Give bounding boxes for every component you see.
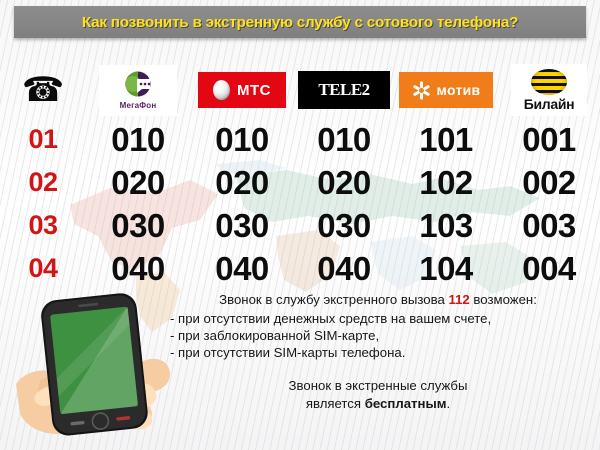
list-item: - при отсутствии SIM-карты телефона.	[170, 344, 588, 361]
cell-tele2-03: 030	[294, 209, 394, 242]
cell-beeline-04: 004	[498, 252, 600, 285]
lead-line: Звонок в службу экстренного вызова 112 в…	[168, 292, 588, 309]
cell-beeline-01: 001	[498, 123, 600, 156]
cell-mts-04: 040	[190, 252, 294, 285]
column-header-megafon: МегаФон	[86, 62, 190, 118]
beeline-logo: Билайн	[511, 64, 587, 116]
megafon-logo-label: МегаФон	[120, 101, 157, 110]
cell-mts-01: 010	[190, 123, 294, 156]
beeline-logo-label: Билайн	[524, 96, 575, 112]
telephone-icon: ☎	[22, 73, 64, 107]
motiv-logo: мотив	[399, 72, 493, 108]
motiv-logo-label: мотив	[437, 82, 481, 98]
cell-service-04: 04	[0, 255, 86, 282]
tele2-logo-label: TELE2	[318, 80, 369, 100]
lead-after-text: возможен:	[470, 292, 537, 307]
cell-service-03: 03	[0, 212, 86, 239]
free-of-charge-emphasis: бесплатным	[365, 396, 447, 411]
cell-motiv-01: 101	[394, 123, 498, 156]
cell-mts-02: 020	[190, 166, 294, 199]
closing-line-2: является бесплатным.	[168, 395, 588, 412]
closing-statement: Звонок в экстренные службы является бесп…	[168, 377, 588, 412]
column-header-mts: МТС	[190, 62, 294, 118]
cell-megafon-02: 020	[86, 166, 190, 199]
table-row: 04 040 040 040 104 004	[0, 247, 600, 290]
hand-holding-smartphone-illustration	[14, 288, 182, 450]
mts-egg-icon	[213, 80, 230, 100]
emergency-number-112: 112	[448, 292, 469, 307]
column-header-beeline: Билайн	[498, 62, 600, 118]
column-header-motiv: мотив	[394, 62, 498, 118]
table-row: 03 030 030 030 103 003	[0, 204, 600, 247]
closing-before-text: является	[306, 396, 365, 411]
megafon-mark-icon	[121, 71, 155, 99]
cell-motiv-02: 102	[394, 166, 498, 199]
cell-beeline-02: 002	[498, 166, 600, 199]
cell-mts-03: 030	[190, 209, 294, 242]
cell-megafon-03: 030	[86, 209, 190, 242]
cell-motiv-03: 103	[394, 209, 498, 242]
megafon-logo: МегаФон	[99, 65, 177, 116]
page-title: Как позвонить в экстренную службу с сото…	[82, 14, 518, 31]
cell-service-02: 02	[0, 169, 86, 196]
list-item: - при заблокированной SIM-карте,	[170, 327, 588, 344]
cell-megafon-01: 010	[86, 123, 190, 156]
lead-before-text: Звонок в службу экстренного вызова	[219, 292, 448, 307]
mts-logo-label: МТС	[237, 82, 271, 99]
cell-tele2-01: 010	[294, 123, 394, 156]
emergency-numbers-table: 01 010 010 010 101 001 02 020 020 020 10…	[0, 118, 600, 290]
cell-service-01: 01	[0, 126, 86, 153]
column-header-service: ☎	[0, 62, 86, 118]
closing-line-1: Звонок в экстренные службы	[168, 377, 588, 394]
cell-megafon-04: 040	[86, 252, 190, 285]
notes-text-block: Звонок в службу экстренного вызова 112 в…	[168, 292, 588, 412]
closing-after-text: .	[446, 396, 450, 411]
list-item: - при отсутствии денежных средств на ваш…	[170, 310, 588, 327]
infographic-poster: Как позвонить в экстренную службу с сото…	[0, 0, 600, 450]
beeline-striped-ball-icon	[531, 69, 567, 95]
table-row: 01 010 010 010 101 001	[0, 118, 600, 161]
tele2-logo: TELE2	[298, 71, 390, 109]
table-row: 02 020 020 020 102 002	[0, 161, 600, 204]
poster-title-bar: Как позвонить в экстренную службу с сото…	[14, 6, 586, 38]
cell-motiv-04: 104	[394, 252, 498, 285]
cell-tele2-04: 040	[294, 252, 394, 285]
motiv-asterisk-icon	[412, 81, 431, 100]
cell-beeline-03: 003	[498, 209, 600, 242]
operator-logo-row: ☎ МегаФон	[0, 62, 600, 118]
column-header-tele2: TELE2	[294, 62, 394, 118]
cell-tele2-02: 020	[294, 166, 394, 199]
conditions-list: - при отсутствии денежных средств на ваш…	[168, 310, 588, 361]
mts-logo: МТС	[198, 72, 286, 108]
